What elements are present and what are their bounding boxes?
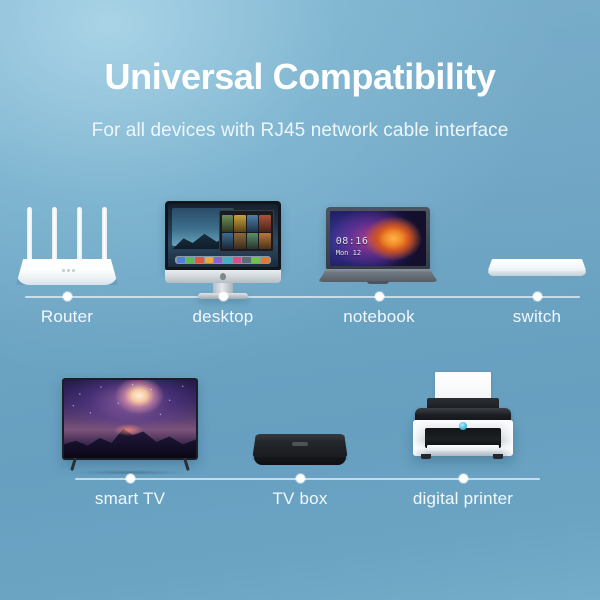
desktop-computer-icon — [165, 201, 281, 299]
promo-banner: Universal Compatibility For all devices … — [0, 0, 600, 600]
router-icon — [16, 207, 118, 289]
laptop-icon: 08:16Mon 12 — [318, 207, 438, 299]
device-row-bottom: smart TV TV box digital printer — [0, 370, 600, 530]
television-icon — [62, 378, 198, 476]
network-switch-icon — [487, 259, 587, 281]
device-label-notebook: notebook — [343, 307, 415, 327]
timeline-dot — [296, 474, 305, 483]
device-label-switch: switch — [513, 307, 561, 327]
device-label-digital-printer: digital printer — [413, 489, 513, 509]
set-top-box-icon — [252, 434, 348, 466]
timeline-dot — [219, 292, 228, 301]
page-title: Universal Compatibility — [0, 58, 600, 96]
device-label-desktop: desktop — [193, 307, 254, 327]
device-label-tv-box: TV box — [272, 489, 327, 509]
timeline-dot — [375, 292, 384, 301]
device-label-smart-tv: smart TV — [95, 489, 165, 509]
row-divider-line — [25, 296, 580, 298]
device-row-top: Router — [0, 185, 600, 345]
page-subtitle: For all devices with RJ45 network cable … — [0, 120, 600, 142]
row-divider-line — [75, 478, 540, 480]
timeline-dot — [126, 474, 135, 483]
timeline-dot — [63, 292, 72, 301]
printer-icon — [409, 372, 517, 462]
timeline-dot — [533, 292, 542, 301]
device-label-router: Router — [41, 307, 93, 327]
timeline-dot — [459, 474, 468, 483]
